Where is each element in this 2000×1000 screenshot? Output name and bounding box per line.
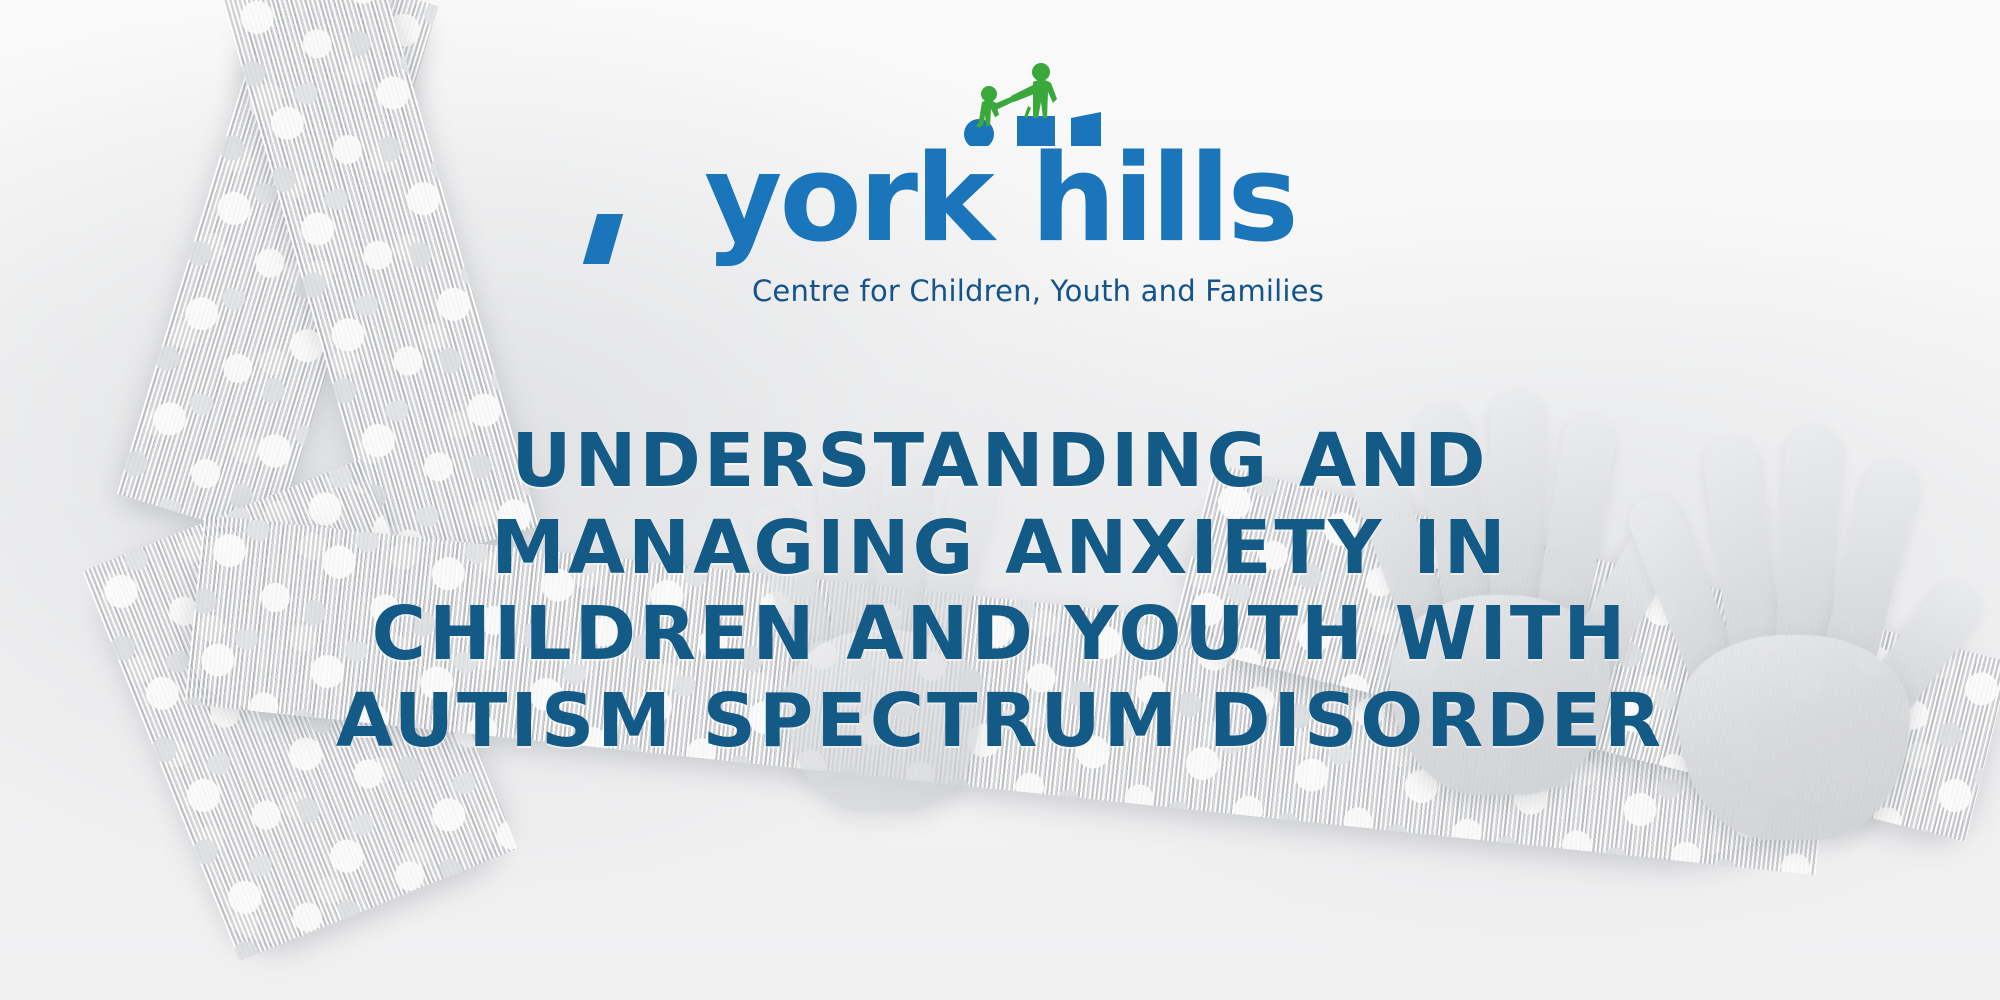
logo-tagline: Centre for Children, Youth and Families <box>752 274 1324 308</box>
title-line-3: CHILDREN AND YOUTH WITH <box>0 591 2000 678</box>
title-line-4: AUTISM SPECTRUM DISORDER <box>0 678 2000 765</box>
event-banner: york hills Centre for Children, Youth an… <box>0 0 2000 1000</box>
adult-figure-icon <box>1011 63 1057 118</box>
title-line-1: UNDERSTANDING AND <box>0 418 2000 505</box>
logo-accent-slash <box>583 214 623 264</box>
page-title: UNDERSTANDING AND MANAGING ANXIETY IN CH… <box>0 418 2000 764</box>
logo-wordmark: york hills <box>704 140 1296 260</box>
title-line-2: MANAGING ANXIETY IN <box>0 505 2000 592</box>
york-hills-logo: york hills Centre for Children, Youth an… <box>0 60 2000 308</box>
child-figure-icon <box>976 86 1015 128</box>
